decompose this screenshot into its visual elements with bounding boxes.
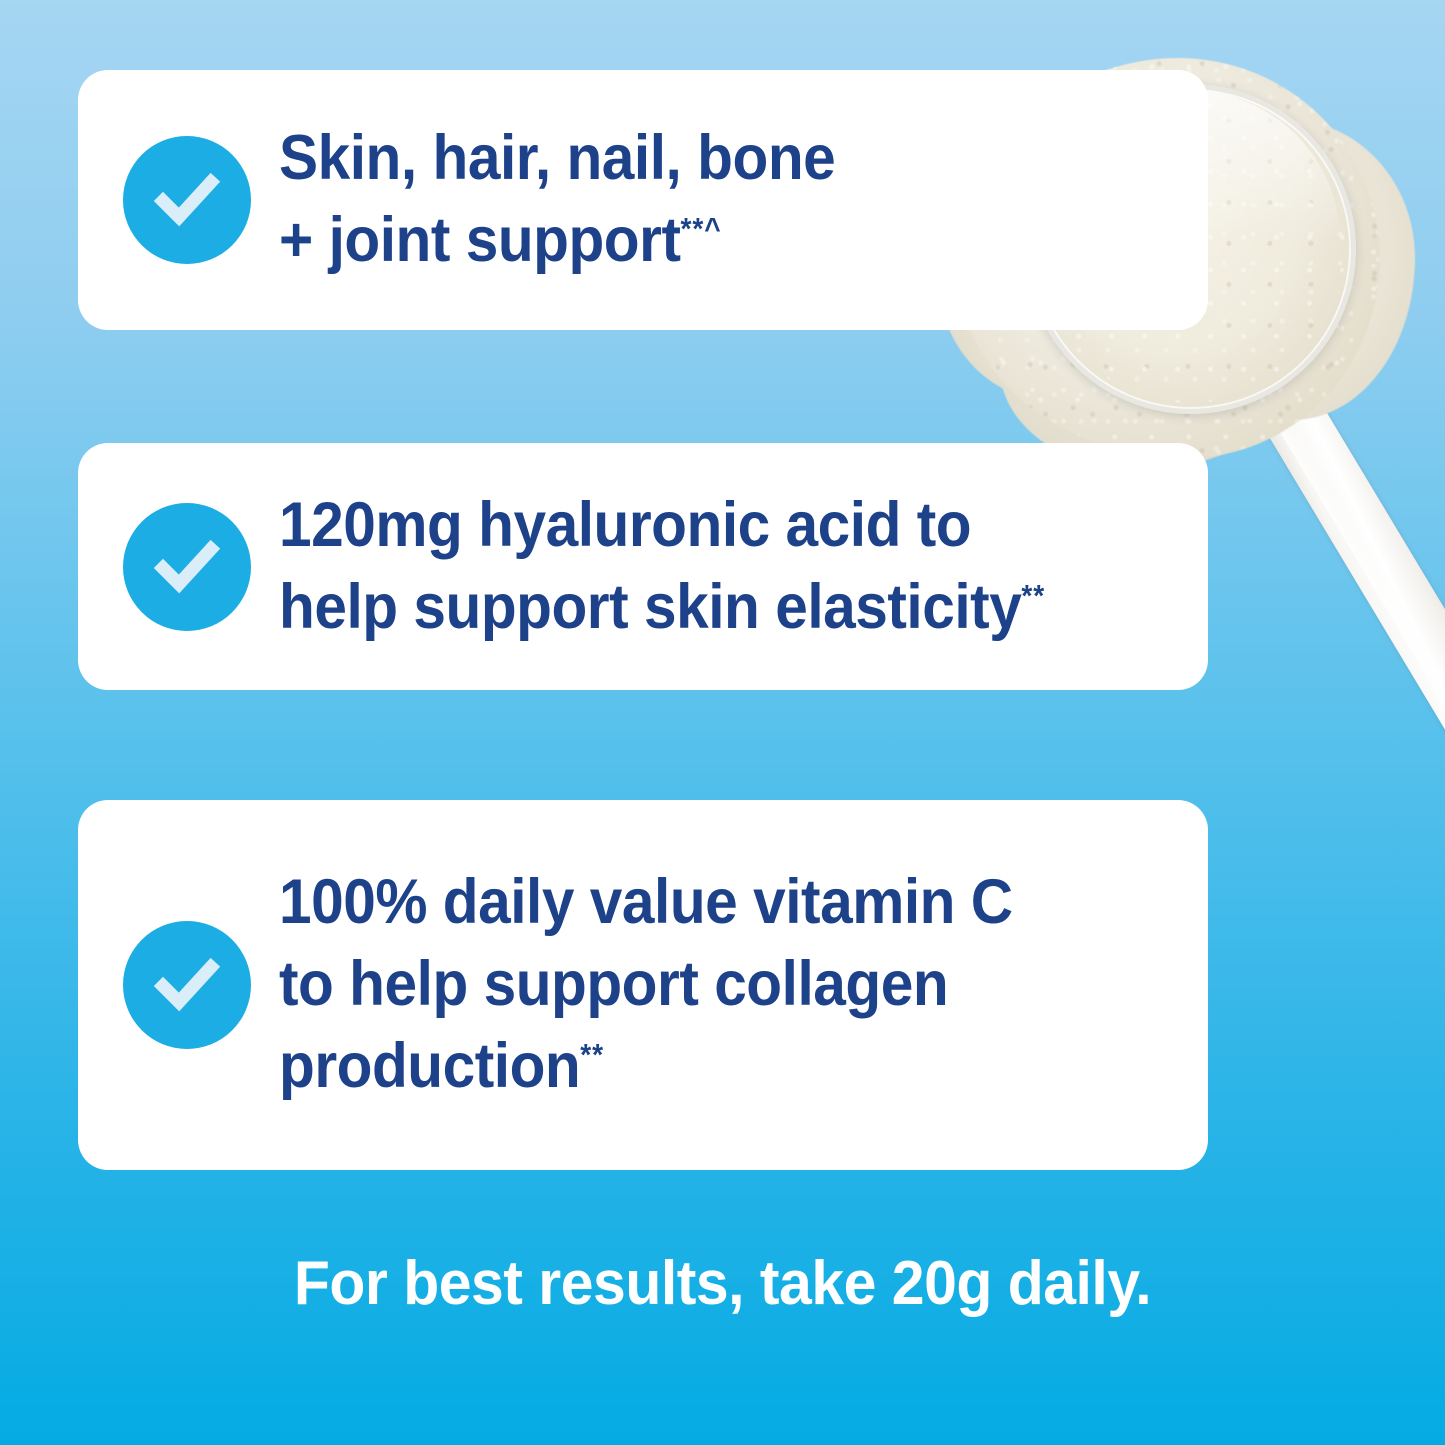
benefit-card-text: Skin, hair, nail, bone + joint support**… [279, 118, 1143, 282]
benefit-card-text: 100% daily value vitamin C to help suppo… [279, 862, 1143, 1108]
benefit-line: + joint support**^ [279, 205, 722, 275]
benefit-line: to help support collagen [279, 949, 948, 1019]
check-icon-wrapper [123, 921, 251, 1049]
benefit-card-vitamin-c: 100% daily value vitamin C to help suppo… [78, 800, 1208, 1170]
benefit-line: 120mg hyaluronic acid to [279, 490, 971, 560]
benefit-line: Skin, hair, nail, bone [279, 123, 835, 193]
dosage-caption: For best results, take 20g daily. [36, 1248, 1409, 1319]
infographic-canvas: TBSP Skin, hair, nail, bone + joint supp… [0, 0, 1445, 1445]
footnote-marker: ** [580, 1039, 604, 1072]
benefit-line: help support skin elasticity** [279, 572, 1045, 642]
footnote-marker: **^ [680, 213, 721, 246]
check-icon [123, 136, 251, 264]
footnote-marker: ** [1021, 580, 1045, 613]
check-icon [123, 921, 251, 1049]
check-icon-wrapper [123, 503, 251, 631]
benefit-card-skin-hair-nail-bone: Skin, hair, nail, bone + joint support**… [78, 70, 1208, 330]
benefit-line: production** [279, 1031, 604, 1101]
benefit-card-text: 120mg hyaluronic acid to help support sk… [279, 485, 1143, 649]
benefit-line: 100% daily value vitamin C [279, 867, 1013, 937]
check-icon [123, 503, 251, 631]
benefit-card-hyaluronic-acid: 120mg hyaluronic acid to help support sk… [78, 443, 1208, 690]
check-icon-wrapper [123, 136, 251, 264]
